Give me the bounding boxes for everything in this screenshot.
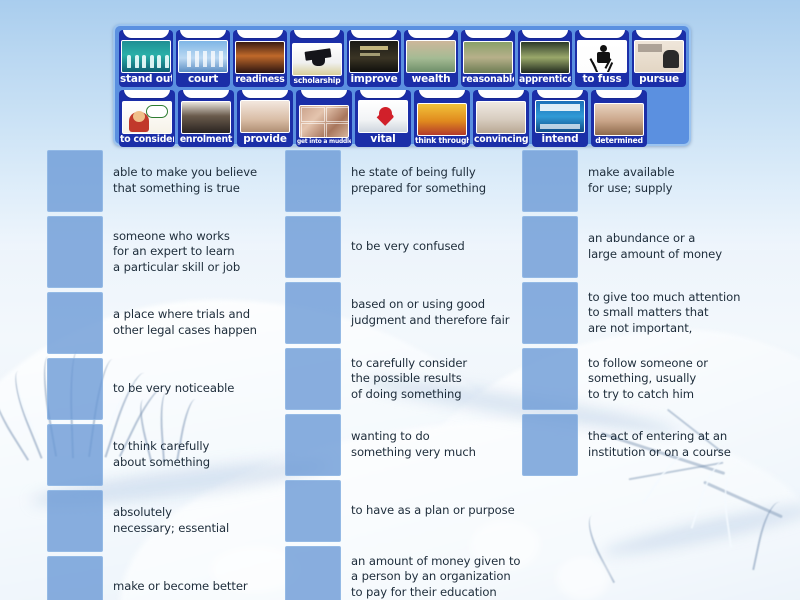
tile-image bbox=[417, 103, 467, 136]
definition-line: to have as a plan or purpose bbox=[351, 503, 533, 519]
word-tile-intend[interactable]: intend bbox=[532, 90, 588, 147]
tile-image bbox=[535, 100, 585, 133]
dropzone[interactable] bbox=[285, 348, 341, 410]
definition-text: to give too much attentionto small matte… bbox=[578, 282, 772, 344]
chalkboard-photo-icon bbox=[350, 41, 398, 72]
tile-label: court bbox=[177, 73, 229, 86]
dropzone[interactable] bbox=[522, 216, 578, 278]
word-tile-pursue[interactable]: pursue bbox=[632, 30, 686, 87]
definition-text: the act of entering at aninstitution or … bbox=[578, 414, 772, 476]
definition-line: something, usually bbox=[588, 371, 770, 387]
tile-notch bbox=[579, 30, 625, 38]
blue-book-photo-icon bbox=[536, 101, 584, 132]
definition-text: an abundance or alarge amount of money bbox=[578, 216, 772, 278]
tile-notch bbox=[408, 30, 454, 38]
dropzone[interactable] bbox=[285, 282, 341, 344]
answer-row: based on or using goodjudgment and there… bbox=[285, 282, 535, 344]
answer-row: make availablefor use; supply bbox=[522, 150, 772, 212]
woman-with-money-photo-icon bbox=[407, 41, 455, 72]
tile-image bbox=[235, 41, 285, 74]
answer-row: an amount of money given toa person by a… bbox=[285, 546, 535, 600]
definition-line: of doing something bbox=[351, 387, 533, 403]
tile-label: scholarship bbox=[291, 76, 343, 86]
definition-line: to pay for their education bbox=[351, 585, 533, 600]
dropzone[interactable] bbox=[522, 348, 578, 410]
definition-text: an amount of money given toa person by a… bbox=[341, 546, 535, 600]
dropzone[interactable] bbox=[285, 150, 341, 212]
tile-image bbox=[240, 100, 290, 133]
tile-image bbox=[476, 101, 526, 134]
definition-line: for an expert to learn bbox=[113, 244, 295, 260]
word-tile-enrolment[interactable]: enrolment bbox=[178, 90, 234, 147]
definition-line: to follow someone or bbox=[588, 356, 770, 372]
definition-text: make or become better bbox=[103, 556, 297, 600]
word-tile-readiness[interactable]: readiness bbox=[233, 30, 287, 87]
definition-text: to have as a plan or purpose bbox=[341, 480, 535, 542]
definition-text: able to make you believethat something i… bbox=[103, 150, 297, 212]
definition-line: a particular skill or job bbox=[113, 260, 295, 276]
word-tile-wealth[interactable]: wealth bbox=[404, 30, 458, 87]
definition-line: to carefully consider bbox=[351, 356, 533, 372]
tile-label: to consider bbox=[120, 134, 174, 146]
answer-row: he state of being fullyprepared for some… bbox=[285, 150, 535, 212]
definition-column-2: he state of being fullyprepared for some… bbox=[285, 150, 535, 600]
tile-notch bbox=[301, 90, 347, 98]
tile-notch bbox=[522, 30, 568, 38]
answer-row: to give too much attentionto small matte… bbox=[522, 282, 772, 344]
tile-image bbox=[577, 40, 627, 73]
definition-text: to be very noticeable bbox=[103, 358, 297, 420]
definition-text: to carefully considerthe possible result… bbox=[341, 348, 535, 410]
word-tile-improve[interactable]: improve bbox=[347, 30, 401, 87]
definition-line: judgment and therefore fair bbox=[351, 313, 533, 329]
yoda-photo-icon bbox=[521, 42, 569, 73]
word-tile-think-through[interactable]: think through bbox=[414, 90, 470, 147]
tile-image bbox=[181, 101, 231, 134]
definition-line: about something bbox=[113, 455, 295, 471]
dropzone[interactable] bbox=[285, 480, 341, 542]
courthouse-photo-icon bbox=[179, 41, 227, 72]
tile-notch bbox=[596, 90, 642, 98]
dropzone[interactable] bbox=[47, 216, 103, 288]
answer-row: the act of entering at aninstitution or … bbox=[522, 414, 772, 476]
word-tile-get-into-a-muddle[interactable]: get into a muddle bbox=[296, 90, 352, 147]
hands-giving-photo-icon bbox=[241, 101, 289, 132]
word-tile-provide[interactable]: provide bbox=[237, 90, 293, 147]
tile-label: stand out bbox=[120, 73, 172, 86]
definition-line: institution or on a course bbox=[588, 445, 770, 461]
definition-text: he state of being fullyprepared for some… bbox=[341, 150, 535, 212]
tile-notch bbox=[465, 30, 511, 38]
definition-text: a place where trials andother legal case… bbox=[103, 292, 297, 354]
word-tile-stand-out[interactable]: stand out bbox=[119, 30, 173, 87]
word-tile-reasonable[interactable]: reasonable bbox=[461, 30, 515, 87]
word-tile-apprentice[interactable]: apprentice bbox=[518, 30, 572, 87]
definition-text: to think carefullyabout something bbox=[103, 424, 297, 486]
stick-figure-drawing-icon bbox=[578, 41, 626, 72]
definition-line: able to make you believe bbox=[113, 165, 295, 181]
definition-line: an amount of money given to bbox=[351, 554, 533, 570]
definition-text: wanting to dosomething very much bbox=[341, 414, 535, 476]
kitten-photo-icon bbox=[477, 102, 525, 133]
definition-line: he state of being fully bbox=[351, 165, 533, 181]
stone-arch-photo-icon bbox=[464, 42, 512, 73]
definition-text: based on or using goodjudgment and there… bbox=[341, 282, 535, 344]
word-tile-to-consider[interactable]: to consider bbox=[119, 90, 175, 147]
tile-label: pursue bbox=[633, 73, 685, 86]
definition-column-1: able to make you believethat something i… bbox=[47, 150, 297, 600]
faces-collage-photo-icon bbox=[300, 106, 348, 137]
tile-label: vital bbox=[356, 133, 410, 146]
dropzone[interactable] bbox=[47, 490, 103, 552]
tile-label: apprentice bbox=[519, 74, 571, 86]
definition-column-3: make availablefor use; supplyan abundanc… bbox=[522, 150, 772, 480]
definition-text: make availablefor use; supply bbox=[578, 150, 772, 212]
baby-crawling-photo-icon bbox=[595, 104, 643, 135]
definition-line: a person by an organization bbox=[351, 569, 533, 585]
tile-image bbox=[520, 41, 570, 74]
dropzone[interactable] bbox=[522, 150, 578, 212]
definition-line: to try to catch him bbox=[588, 387, 770, 403]
definition-text: someone who worksfor an expert to learna… bbox=[103, 216, 297, 288]
book-cover-photo-icon bbox=[635, 41, 683, 72]
definition-line: something very much bbox=[351, 445, 533, 461]
sunset-silhouette-photo-icon bbox=[236, 42, 284, 73]
definition-line: are not important, bbox=[588, 321, 770, 337]
tile-label: reasonable bbox=[462, 74, 514, 86]
winnie-the-pooh-photo-icon bbox=[418, 104, 466, 135]
tile-image bbox=[594, 103, 644, 136]
dropzone[interactable] bbox=[522, 414, 578, 476]
tile-image bbox=[349, 40, 399, 73]
definition-line: wanting to do bbox=[351, 429, 533, 445]
tile-label: get into a muddle bbox=[297, 138, 351, 146]
tile-notch bbox=[124, 90, 170, 98]
answer-row: to be very confused bbox=[285, 216, 535, 278]
dropzone[interactable] bbox=[47, 358, 103, 420]
definition-line: the act of entering at an bbox=[588, 429, 770, 445]
answer-row: an abundance or alarge amount of money bbox=[522, 216, 772, 278]
word-tile-panel: stand outcourtreadinessscholarshipimprov… bbox=[113, 24, 691, 146]
tile-notch bbox=[636, 30, 682, 38]
answer-row: absolutelynecessary; essential bbox=[47, 490, 297, 552]
answer-row: wanting to dosomething very much bbox=[285, 414, 535, 476]
dropzone[interactable] bbox=[47, 292, 103, 354]
tile-label: to fuss bbox=[576, 73, 628, 86]
word-tile-vital[interactable]: vital bbox=[355, 90, 411, 147]
tile-image bbox=[634, 40, 684, 73]
dropzone[interactable] bbox=[285, 546, 341, 600]
word-tile-scholarship[interactable]: scholarship bbox=[290, 30, 344, 87]
man-portrait-photo-icon bbox=[182, 102, 230, 133]
definition-line: someone who works bbox=[113, 229, 295, 245]
definition-line: a place where trials and bbox=[113, 307, 295, 323]
dropzone[interactable] bbox=[47, 556, 103, 600]
tile-image bbox=[121, 40, 171, 73]
tile-notch bbox=[123, 30, 169, 38]
tile-label: think through bbox=[415, 136, 469, 146]
tile-image bbox=[358, 100, 408, 133]
tile-label: determined bbox=[592, 136, 646, 146]
tile-image bbox=[406, 40, 456, 73]
tile-notch bbox=[478, 90, 524, 98]
definition-line: to be very noticeable bbox=[113, 381, 295, 397]
definition-text: to follow someone orsomething, usuallyto… bbox=[578, 348, 772, 410]
tile-notch bbox=[294, 30, 340, 38]
bowling-pins-photo-icon bbox=[122, 41, 170, 72]
definition-line: other legal cases happen bbox=[113, 323, 295, 339]
word-tile-court[interactable]: court bbox=[176, 30, 230, 87]
definition-line: an abundance or a bbox=[588, 231, 770, 247]
answer-row: to carefully considerthe possible result… bbox=[285, 348, 535, 410]
definition-line: make or become better bbox=[113, 579, 295, 595]
word-tile-convincing[interactable]: convincing bbox=[473, 90, 529, 147]
answer-row: make or become better bbox=[47, 556, 297, 600]
definition-line: prepared for something bbox=[351, 181, 533, 197]
tile-notch bbox=[237, 30, 283, 38]
dropzone[interactable] bbox=[47, 424, 103, 486]
definition-line: for use; supply bbox=[588, 181, 770, 197]
dropzone[interactable] bbox=[522, 282, 578, 344]
tile-label: improve bbox=[348, 73, 400, 86]
definition-line: the possible results bbox=[351, 371, 533, 387]
tile-notch bbox=[242, 90, 288, 98]
word-tile-determined[interactable]: determined bbox=[591, 90, 647, 147]
answer-row: to follow someone orsomething, usuallyto… bbox=[522, 348, 772, 410]
answer-row: able to make you believethat something i… bbox=[47, 150, 297, 212]
definition-line: to small matters that bbox=[588, 305, 770, 321]
definition-line: absolutely bbox=[113, 505, 295, 521]
tile-notch bbox=[180, 30, 226, 38]
answer-row: to think carefullyabout something bbox=[47, 424, 297, 486]
answer-row: to be very noticeable bbox=[47, 358, 297, 420]
tile-notch bbox=[419, 90, 465, 98]
answer-columns-area: able to make you believethat something i… bbox=[0, 150, 800, 600]
tile-label: wealth bbox=[405, 73, 457, 86]
definition-line: based on or using good bbox=[351, 297, 533, 313]
tile-label: convincing bbox=[474, 134, 528, 146]
answer-row: to have as a plan or purpose bbox=[285, 480, 535, 542]
tile-label: provide bbox=[238, 133, 292, 146]
dropzone[interactable] bbox=[285, 414, 341, 476]
definition-text: to be very confused bbox=[341, 216, 535, 278]
definition-line: make available bbox=[588, 165, 770, 181]
answer-row: a place where trials andother legal case… bbox=[47, 292, 297, 354]
dropzone[interactable] bbox=[47, 150, 103, 212]
tile-image bbox=[292, 43, 342, 76]
tile-label: enrolment bbox=[179, 134, 233, 146]
answer-row: someone who worksfor an expert to learna… bbox=[47, 216, 297, 288]
tile-label: intend bbox=[533, 133, 587, 146]
word-tile-to-fuss[interactable]: to fuss bbox=[575, 30, 629, 87]
tile-image bbox=[299, 105, 349, 138]
doctor-heart-photo-icon bbox=[359, 101, 407, 132]
definition-line: to give too much attention bbox=[588, 290, 770, 306]
definition-line: to be very confused bbox=[351, 239, 533, 255]
definition-line: large amount of money bbox=[588, 247, 770, 263]
definition-line: to think carefully bbox=[113, 439, 295, 455]
tile-image bbox=[463, 41, 513, 74]
tile-notch bbox=[351, 30, 397, 38]
definition-line: necessary; essential bbox=[113, 521, 295, 537]
tile-image bbox=[178, 40, 228, 73]
thinking-cartoon-icon bbox=[123, 102, 171, 133]
word-tile-row-1: stand outcourtreadinessscholarshipimprov… bbox=[119, 30, 686, 87]
dropzone[interactable] bbox=[285, 216, 341, 278]
definition-line: that something is true bbox=[113, 181, 295, 197]
tile-image bbox=[122, 101, 172, 134]
graduation-cap-photo-icon bbox=[293, 44, 341, 75]
tile-notch bbox=[537, 90, 583, 98]
definition-text: absolutelynecessary; essential bbox=[103, 490, 297, 552]
tile-notch bbox=[183, 90, 229, 98]
word-tile-row-2: to considerenrolmentprovideget into a mu… bbox=[119, 90, 686, 147]
tile-notch bbox=[360, 90, 406, 98]
tile-label: readiness bbox=[234, 74, 286, 86]
